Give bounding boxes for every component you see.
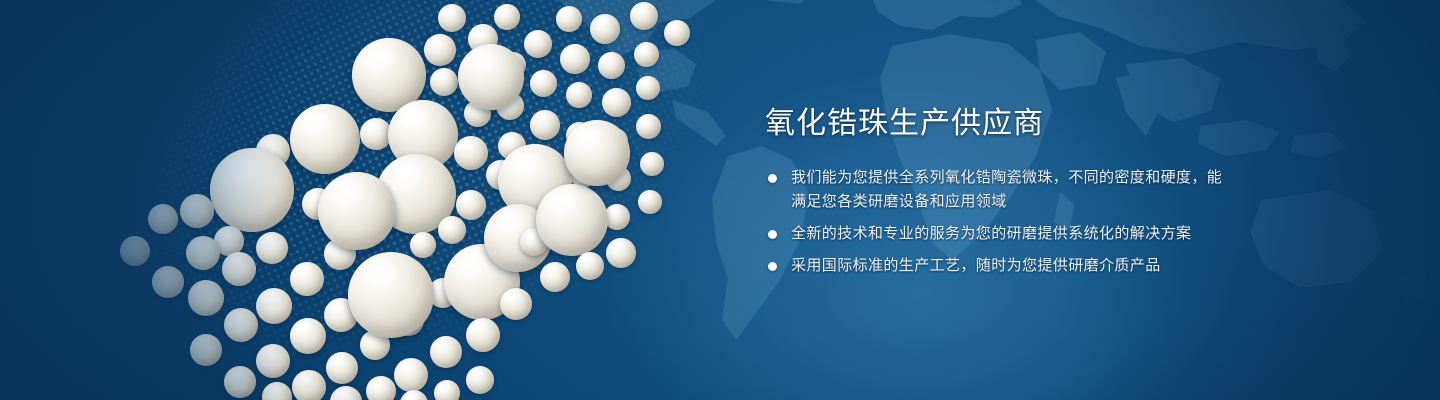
banner-headline: 氧化锆珠生产供应商 [765, 104, 1235, 144]
bullet-text: 全新的技术和专业的服务为您的研磨提供系统化的解决方案 [791, 225, 1191, 242]
bullet-dot-icon [768, 230, 777, 239]
bullet-dot-icon [768, 262, 777, 271]
bullet-text: 采用国际标准的生产工艺，随时为您提供研磨介质产品 [791, 257, 1161, 274]
list-item: 采用国际标准的生产工艺，随时为您提供研磨介质产品 [765, 254, 1235, 278]
bullet-dot-icon [768, 174, 777, 183]
hero-banner: 氧化锆珠生产供应商 我们能为您提供全系列氧化锆陶瓷微珠，不同的密度和硬度，能满足… [0, 0, 1440, 400]
list-item: 全新的技术和专业的服务为您的研磨提供系统化的解决方案 [765, 222, 1235, 246]
banner-copy: 氧化锆珠生产供应商 我们能为您提供全系列氧化锆陶瓷微珠，不同的密度和硬度，能满足… [765, 104, 1235, 278]
list-item: 我们能为您提供全系列氧化锆陶瓷微珠，不同的密度和硬度，能满足您各类研磨设备和应用… [765, 166, 1235, 214]
feature-bullet-list: 我们能为您提供全系列氧化锆陶瓷微珠，不同的密度和硬度，能满足您各类研磨设备和应用… [765, 166, 1235, 278]
bullet-text: 我们能为您提供全系列氧化锆陶瓷微珠，不同的密度和硬度，能满足您各类研磨设备和应用… [791, 169, 1222, 210]
